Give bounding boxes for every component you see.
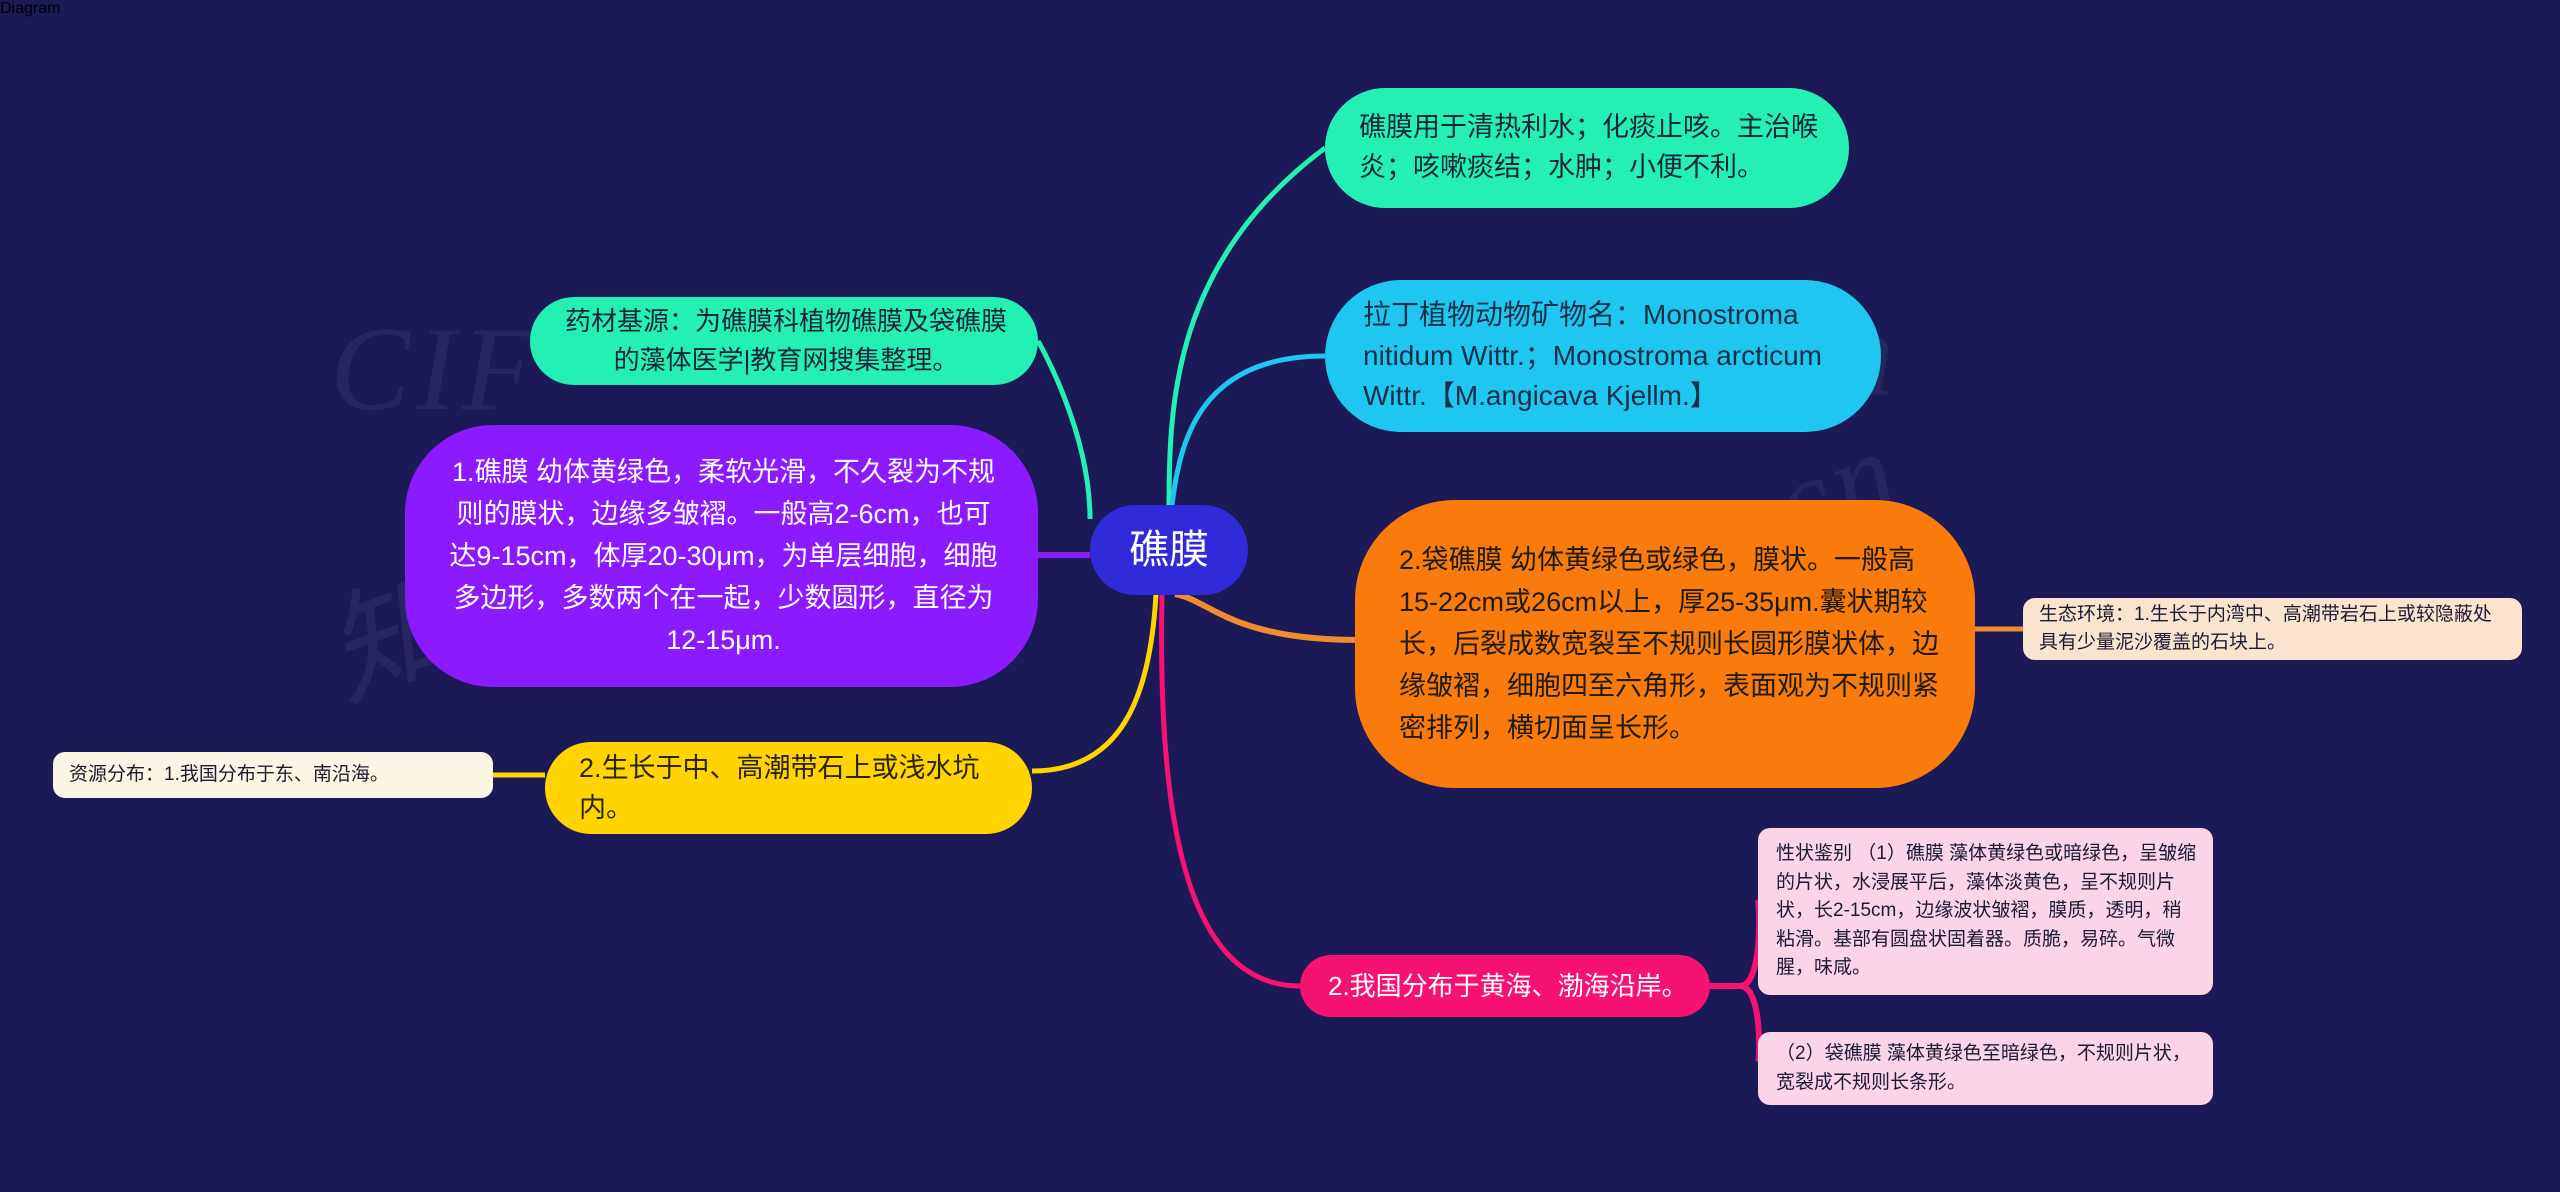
- habitat-node[interactable]: 2.生长于中、高潮带石上或浅水坑内。: [545, 742, 1032, 834]
- medicinal-source-node-label: 药材基源：为礁膜科植物礁膜及袋礁膜的藻体医学|教育网搜集整理。: [560, 302, 1012, 380]
- connector-lines: [0, 0, 2560, 1192]
- morphology-daijiaomo-node[interactable]: 2.袋礁膜 幼体黄绿色或绿色，膜状。一般高15-22cm或26cm以上，厚25-…: [1355, 500, 1975, 788]
- watermark-1: CIF: [330, 300, 541, 438]
- identification-jiaomo-node-label: 性状鉴别 （1）礁膜 藻体黄绿色或暗绿色，呈皱缩的片状，水浸展平后，藻体淡黄色，…: [1776, 840, 2199, 983]
- connector-latin-name: [1172, 356, 1325, 505]
- connector-distribution: [1162, 594, 1300, 986]
- efficacy-node[interactable]: 礁膜用于清热利水；化痰止咳。主治喉炎；咳嗽痰结；水肿；小便不利。: [1325, 88, 1849, 208]
- root-node-label: 礁膜: [1090, 526, 1248, 574]
- connector-source: [1038, 341, 1090, 519]
- habitat-node-label: 2.生长于中、高潮带石上或浅水坑内。: [579, 748, 1006, 829]
- morphology-daijiaomo-node-label: 2.袋礁膜 幼体黄绿色或绿色，膜状。一般高15-22cm或26cm以上，厚25-…: [1399, 539, 1939, 750]
- medicinal-source-node[interactable]: 药材基源：为礁膜科植物礁膜及袋礁膜的藻体医学|教育网搜集整理。: [530, 297, 1038, 385]
- distribution-node-label: 2.我国分布于黄海、渤海沿岸。: [1328, 968, 1688, 1004]
- latin-name-node[interactable]: 拉丁植物动物矿物名：Monostroma nitidum Wittr.；Mono…: [1325, 280, 1881, 432]
- connector-efficacy: [1169, 148, 1325, 505]
- connector-habitat: [1032, 594, 1156, 771]
- ecology-node-label: 生态环境：1.生长于内湾中、高潮带岩石上或较隐蔽处具有少量泥沙覆盖的石块上。: [2039, 601, 2508, 658]
- morphology-jiaomo-node[interactable]: 1.礁膜 幼体黄绿色，柔软光滑，不久裂为不规则的膜状，边缘多皱褶。一般高2-6c…: [405, 425, 1038, 687]
- connector-morphology-2: [1175, 594, 1360, 640]
- root-node[interactable]: 礁膜: [1090, 505, 1248, 595]
- identification-daijiaomo-node-label: （2）袋礁膜 藻体黄绿色至暗绿色，不规则片状，宽裂成不规则长条形。: [1776, 1040, 2199, 1097]
- latin-name-node-label: 拉丁植物动物矿物名：Monostroma nitidum Wittr.；Mono…: [1363, 295, 1851, 417]
- resource-distribution-node-label: 资源分布：1.我国分布于东、南沿海。: [69, 761, 481, 790]
- ecology-node[interactable]: 生态环境：1.生长于内湾中、高潮带岩石上或较隐蔽处具有少量泥沙覆盖的石块上。: [2023, 598, 2522, 660]
- identification-daijiaomo-node[interactable]: （2）袋礁膜 藻体黄绿色至暗绿色，不规则片状，宽裂成不规则长条形。: [1758, 1032, 2213, 1105]
- efficacy-node-label: 礁膜用于清热利水；化痰止咳。主治喉炎；咳嗽痰结；水肿；小便不利。: [1359, 108, 1819, 188]
- connector-identification-1: [1740, 900, 1759, 986]
- identification-jiaomo-node[interactable]: 性状鉴别 （1）礁膜 藻体黄绿色或暗绿色，呈皱缩的片状，水浸展平后，藻体淡黄色，…: [1758, 828, 2213, 995]
- connector-identification-2: [1740, 986, 1759, 1062]
- distribution-node[interactable]: 2.我国分布于黄海、渤海沿岸。: [1300, 955, 1710, 1017]
- resource-distribution-node[interactable]: 资源分布：1.我国分布于东、南沿海。: [53, 752, 493, 798]
- morphology-jiaomo-node-label: 1.礁膜 幼体黄绿色，柔软光滑，不久裂为不规则的膜状，边缘多皱褶。一般高2-6c…: [447, 451, 1000, 662]
- mindmap-canvas: CIF su.cn shutu.cn 知图 礁膜 礁膜用于清热利水；化痰止咳。主…: [0, 0, 2560, 1192]
